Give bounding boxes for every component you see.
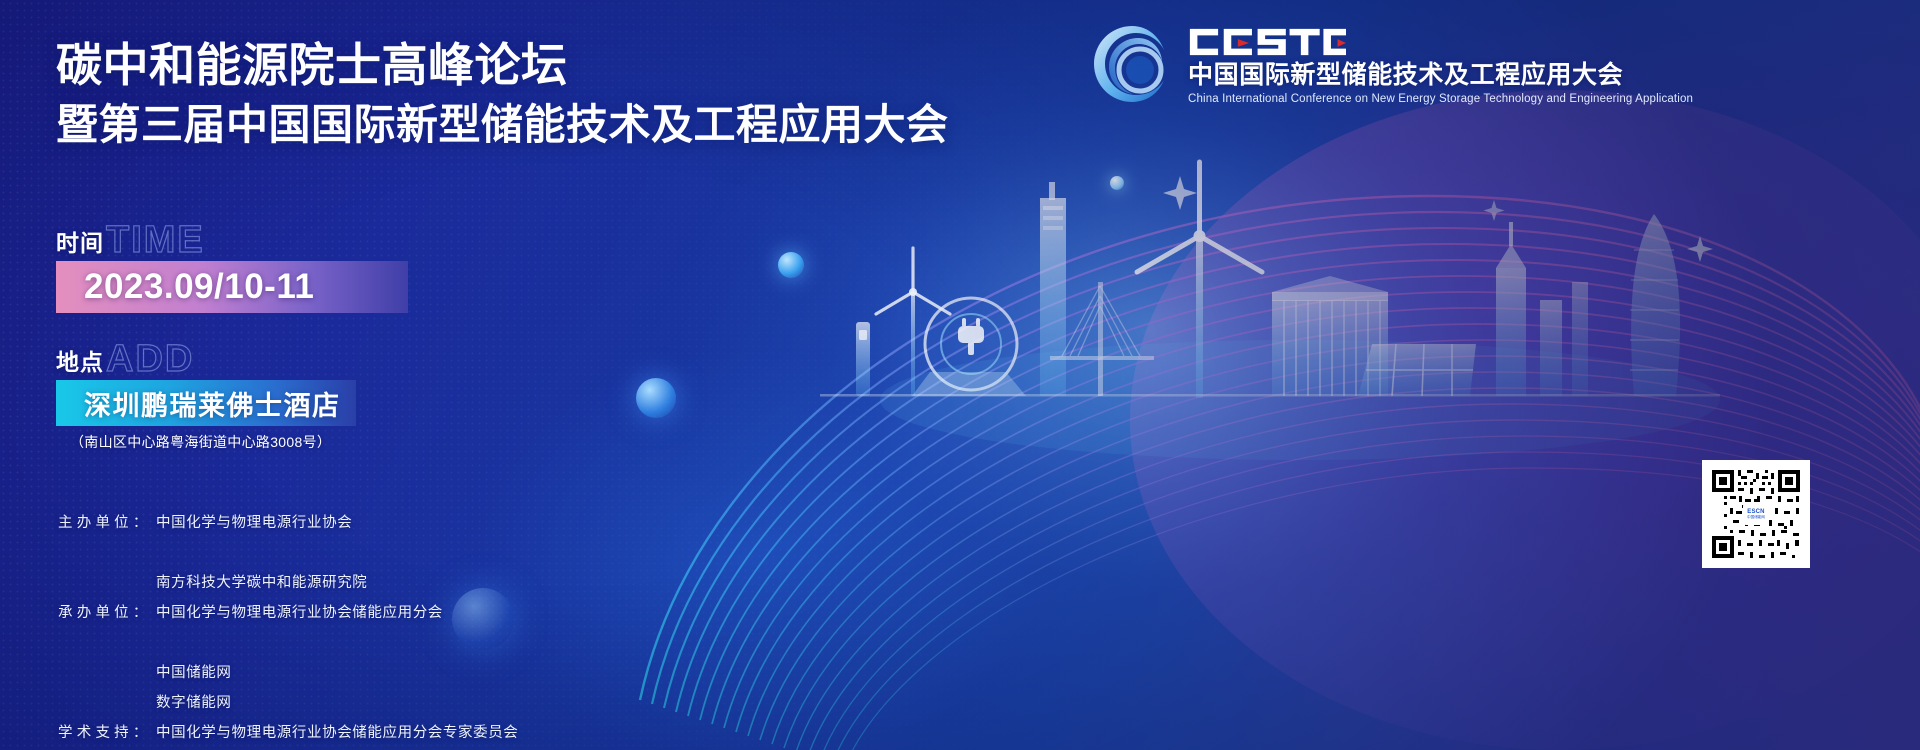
conference-banner: 碳中和能源院士高峰论坛 暨第三届中国国际新型储能技术及工程应用大会 TIME 时… <box>0 0 1920 750</box>
host-row: 主办单位： 中国化学与物理电源行业协会 <box>58 508 518 568</box>
decorative-orb-large <box>778 252 804 278</box>
time-label-en: TIME <box>106 219 205 262</box>
ccstc-logo: 中国国际新型储能技术及工程应用大会 China International Co… <box>1090 22 1693 106</box>
ccstc-title-cn: 中国国际新型储能技术及工程应用大会 <box>1188 62 1693 88</box>
qr-code[interactable]: ESCN 中国储能网 <box>1702 460 1810 568</box>
ccstc-title-en: China International Conference on New En… <box>1188 93 1693 105</box>
host-value-2: 南方科技大学碳中和能源研究院 <box>58 568 518 598</box>
qr-badge-line-1: ESCN <box>1747 509 1764 515</box>
organizer-key: 承办单位： <box>58 598 148 658</box>
host-value-1: 中国化学与物理电源行业协会 <box>148 508 352 568</box>
qr-center-badge: ESCN 中国储能网 <box>1743 503 1769 525</box>
time-value-bar: 2023.09/10-11 <box>56 261 408 313</box>
organizer-list: 主办单位： 中国化学与物理电源行业协会 南方科技大学碳中和能源研究院 承办单位：… <box>58 508 518 750</box>
ccstc-spiral-icon <box>1090 22 1174 106</box>
place-label-row: ADD 地点 <box>56 343 486 377</box>
qr-badge-line-2: 中国储能网 <box>1747 516 1765 520</box>
venue-value-bar: 深圳鹏瑞莱佛士酒店 <box>56 380 356 426</box>
academic-row: 学术支持： 中国化学与物理电源行业协会储能应用分会专家委员会 <box>58 718 518 750</box>
banner-headline: 碳中和能源院士高峰论坛 暨第三届中国国际新型储能技术及工程应用大会 <box>56 38 1056 150</box>
ccstc-acronym-glyphs <box>1188 25 1346 59</box>
headline-line-2: 暨第三届中国国际新型储能技术及工程应用大会 <box>56 100 1056 150</box>
place-label-en: ADD <box>106 338 194 381</box>
time-value: 2023.09/10-11 <box>84 267 314 307</box>
headline-line-1: 碳中和能源院士高峰论坛 <box>56 38 1056 92</box>
venue-name: 深圳鹏瑞莱佛士酒店 <box>84 384 341 423</box>
organizer-value-3: 数字储能网 <box>58 688 518 718</box>
organizer-row: 承办单位： 中国化学与物理电源行业协会储能应用分会 <box>58 598 518 658</box>
time-label-cn: 时间 <box>56 224 104 258</box>
organizer-value-1: 中国化学与物理电源行业协会储能应用分会 <box>148 598 443 658</box>
event-details: TIME 时间 2023.09/10-11 ADD 地点 深圳鹏瑞莱佛士酒店 （… <box>56 224 486 452</box>
venue-address: （南山区中心路粤海街道中心路3008号） <box>56 432 486 452</box>
decorative-orb-small <box>1110 176 1124 190</box>
host-key: 主办单位： <box>58 508 148 568</box>
ccstc-logo-text: 中国国际新型储能技术及工程应用大会 China International Co… <box>1188 23 1693 104</box>
academic-value-1: 中国化学与物理电源行业协会储能应用分会专家委员会 <box>148 718 518 750</box>
time-label-row: TIME 时间 <box>56 224 486 258</box>
decorative-orb-medium <box>636 378 676 418</box>
organizer-value-2: 中国储能网 <box>58 658 518 688</box>
academic-key: 学术支持： <box>58 718 148 750</box>
place-label-cn: 地点 <box>56 343 104 377</box>
ccstc-acronym <box>1188 25 1693 59</box>
